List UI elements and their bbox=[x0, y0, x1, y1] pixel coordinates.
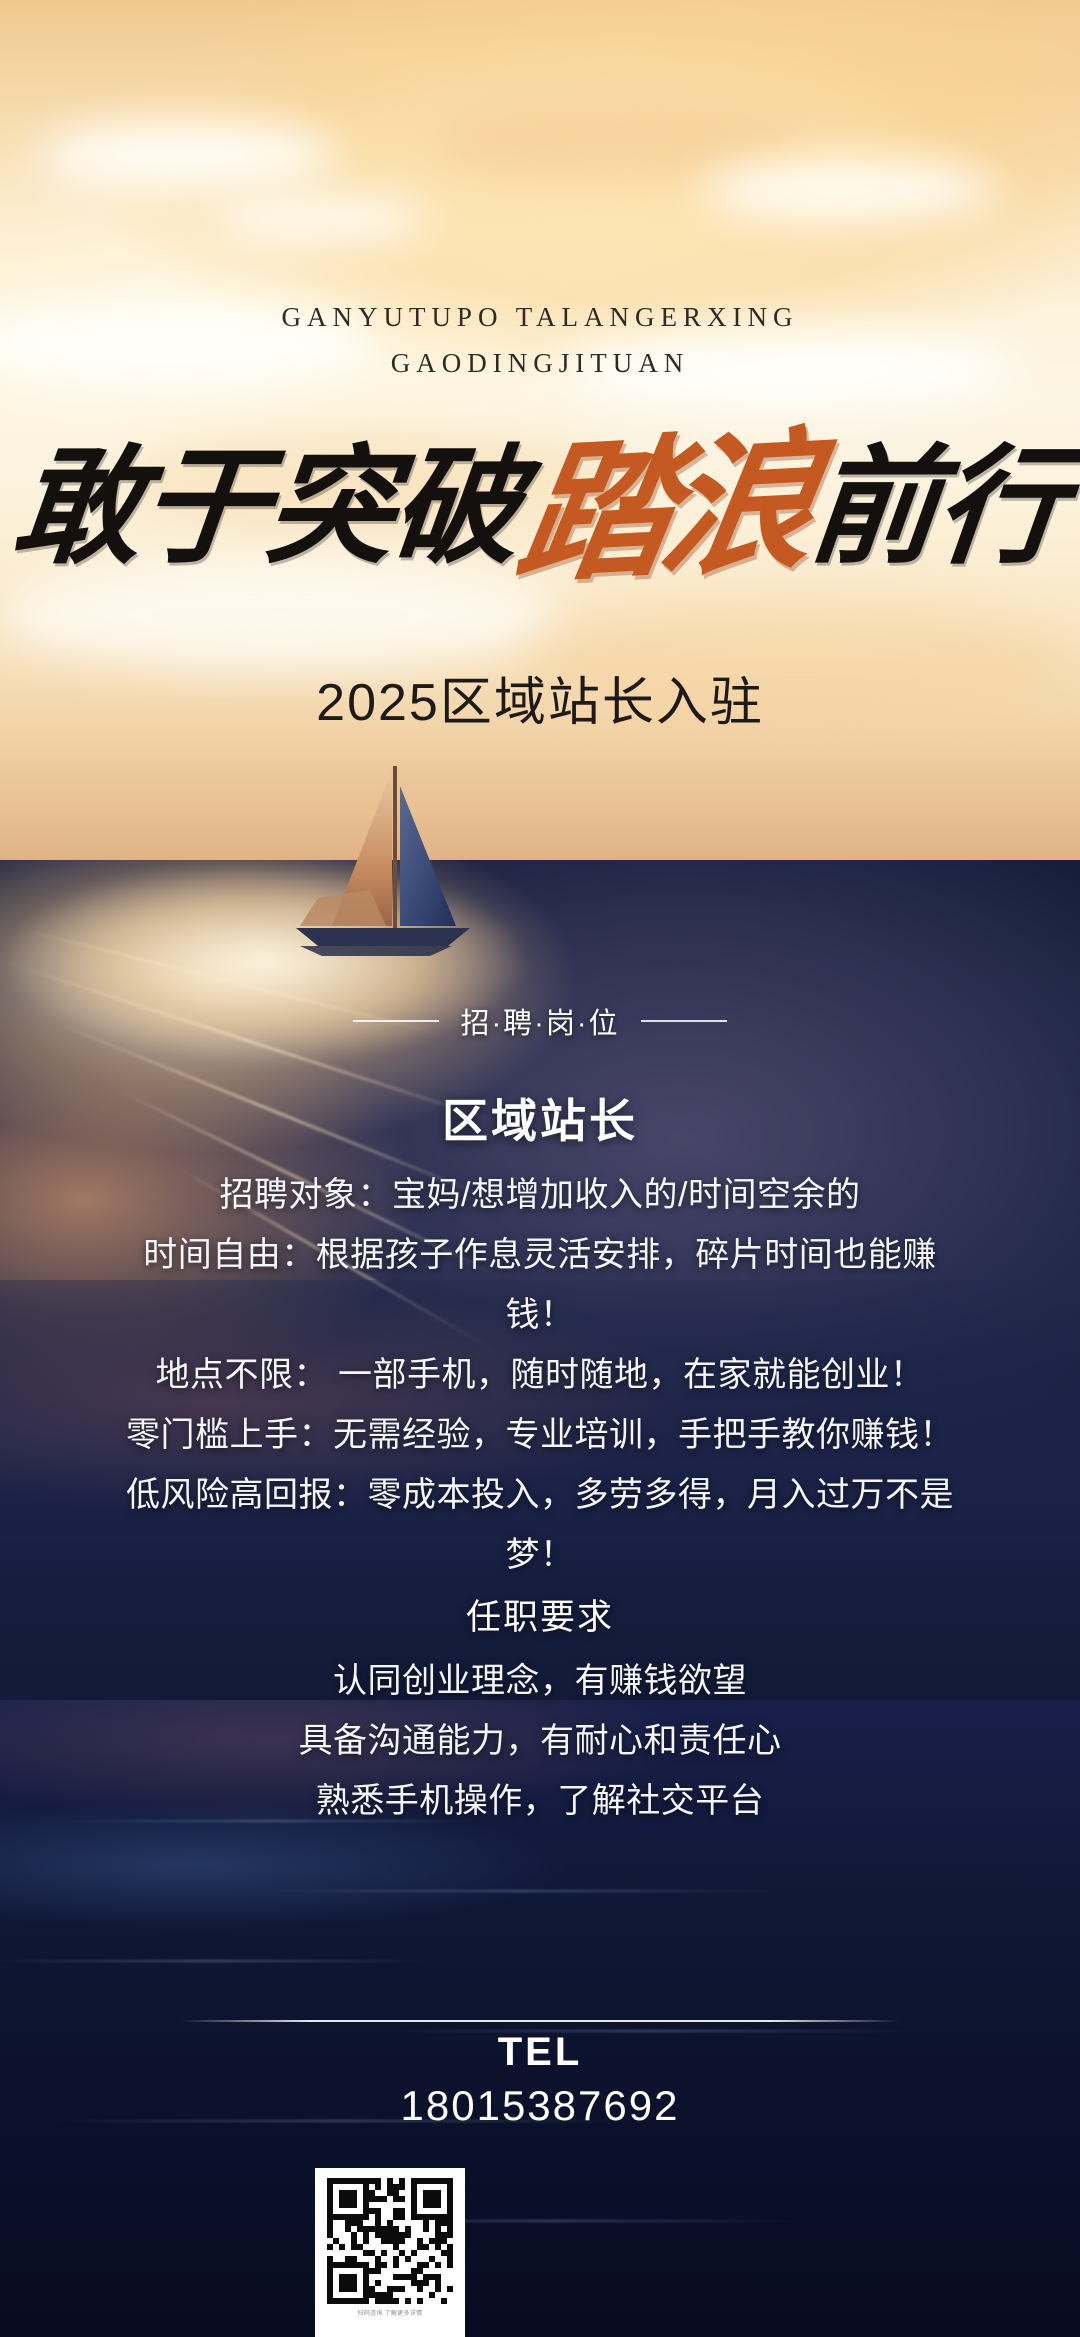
job-description-line: 零门槛上手：无需经验，专业培训，手把手教你赚钱！ bbox=[30, 1405, 1050, 1465]
requirement-line: 认同创业理念，有赚钱欲望 bbox=[30, 1651, 1050, 1711]
job-title: 区域站长 bbox=[0, 1085, 1080, 1151]
sailboat-illustration bbox=[0, 740, 1080, 990]
requirements-heading: 任职要求 bbox=[30, 1585, 1050, 1651]
qr-code[interactable]: 扫码咨询 了解更多详情 bbox=[315, 2168, 465, 2337]
tel-label: TEL bbox=[0, 2030, 1080, 2075]
poster-canvas: GANYUTUPO TALANGERXING GAODINGJITUAN 敢于突… bbox=[0, 0, 1080, 2337]
requirement-line: 熟悉手机操作，了解社交平台 bbox=[30, 1771, 1050, 1831]
job-description-line: 钱！ bbox=[30, 1285, 1050, 1345]
headline-part-1: 敢于突破 bbox=[6, 403, 529, 588]
divider-bar-right bbox=[641, 1020, 727, 1022]
headline-part-2: 前行 bbox=[802, 403, 1073, 588]
requirement-line: 具备沟通能力，有耐心和责任心 bbox=[30, 1711, 1050, 1771]
job-description-line: 招聘对象：宝妈/想增加收入的/时间空余的 bbox=[30, 1165, 1050, 1225]
headline-brush-text: 踏浪 bbox=[505, 378, 827, 613]
divider-label: 招·聘·岗·位 bbox=[461, 1000, 620, 1042]
subtitle: 2025区域站长入驻 bbox=[0, 660, 1080, 735]
qr-code-matrix bbox=[327, 2178, 453, 2304]
qr-caption: 扫码咨询 了解更多详情 bbox=[315, 2308, 465, 2317]
cloud-shape bbox=[700, 160, 1000, 220]
tel-number[interactable]: 18015387692 bbox=[0, 2082, 1080, 2130]
contact-divider bbox=[180, 2020, 900, 2022]
pinyin-line-2: GAODINGJITUAN bbox=[0, 340, 1080, 386]
pinyin-line-1: GANYUTUPO TALANGERXING bbox=[0, 294, 1080, 340]
job-description-line: 梦！ bbox=[30, 1525, 1050, 1585]
section-divider: 招·聘·岗·位 bbox=[0, 1000, 1080, 1042]
headline: 敢于突破 踏浪 前行 bbox=[0, 400, 1080, 590]
job-description-line: 时间自由：根据孩子作息灵活安排，碎片时间也能赚 bbox=[30, 1225, 1050, 1285]
cloud-shape bbox=[40, 120, 340, 190]
job-description-line: 地点不限： 一部手机，随时随地，在家就能创业！ bbox=[30, 1345, 1050, 1405]
job-description-line: 低风险高回报：零成本投入，多劳多得，月入过万不是 bbox=[30, 1465, 1050, 1525]
divider-bar-left bbox=[353, 1020, 439, 1022]
job-description-block: 招聘对象：宝妈/想增加收入的/时间空余的 时间自由：根据孩子作息灵活安排，碎片时… bbox=[30, 1165, 1050, 1831]
cloud-shape bbox=[210, 196, 430, 242]
